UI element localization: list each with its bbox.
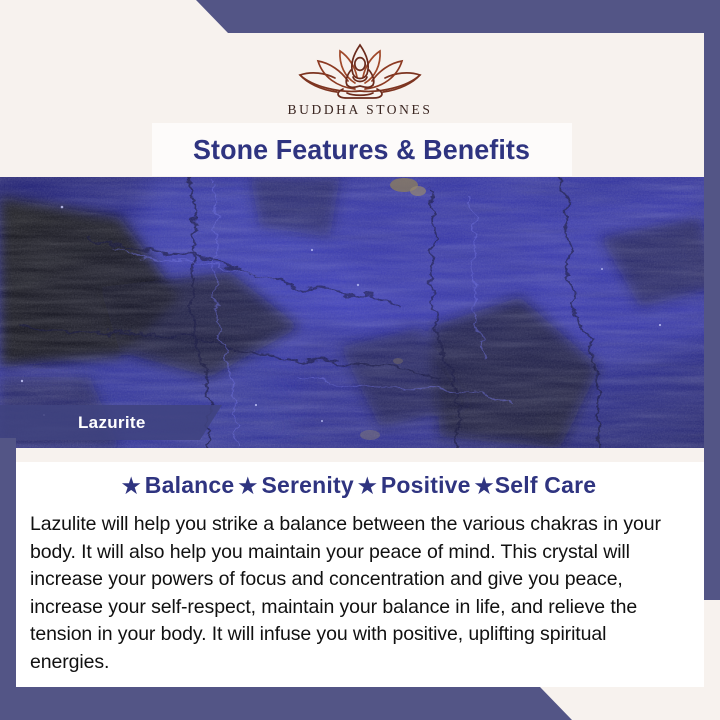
decor-bar-left	[0, 438, 16, 720]
poster-root: BUDDHA STONES Stone Features & Benefits	[0, 0, 720, 720]
benefits-list: ★Balance★Serenity★Positive★Self Care	[16, 472, 704, 499]
stone-name-text: Lazurite	[0, 413, 146, 433]
stone-name-label: Lazurite	[0, 405, 222, 440]
brand-wordmark: BUDDHA STONES	[288, 102, 433, 118]
decor-bar-top	[0, 0, 720, 33]
star-icon-2: ★	[238, 475, 257, 498]
lotus-meditation-icon	[285, 37, 435, 101]
benefit-item-serenity: Serenity	[261, 472, 353, 498]
content-top-strip	[16, 448, 704, 462]
star-icon-1: ★	[122, 475, 141, 498]
stone-description-text: Lazulite will help you strike a balance …	[30, 511, 690, 676]
decor-bar-right	[704, 0, 720, 600]
benefit-item-balance: Balance	[145, 472, 235, 498]
poster-card: BUDDHA STONES Stone Features & Benefits	[16, 33, 704, 687]
benefit-item-positive: Positive	[381, 472, 471, 498]
stone-description: Lazulite will help you strike a balance …	[30, 511, 690, 676]
lazurite-stone-photo: Lazurite	[0, 177, 720, 448]
content-panel: ★Balance★Serenity★Positive★Self Care Laz…	[16, 448, 704, 687]
star-icon-3: ★	[358, 475, 377, 498]
title-banner: Stone Features & Benefits	[152, 123, 572, 176]
brand-header: BUDDHA STONES	[16, 33, 704, 125]
benefit-item-self-care: Self Care	[495, 472, 597, 498]
decor-bar-bottom	[0, 687, 720, 720]
star-icon-4: ★	[475, 475, 494, 498]
page-title: Stone Features & Benefits	[194, 134, 531, 166]
